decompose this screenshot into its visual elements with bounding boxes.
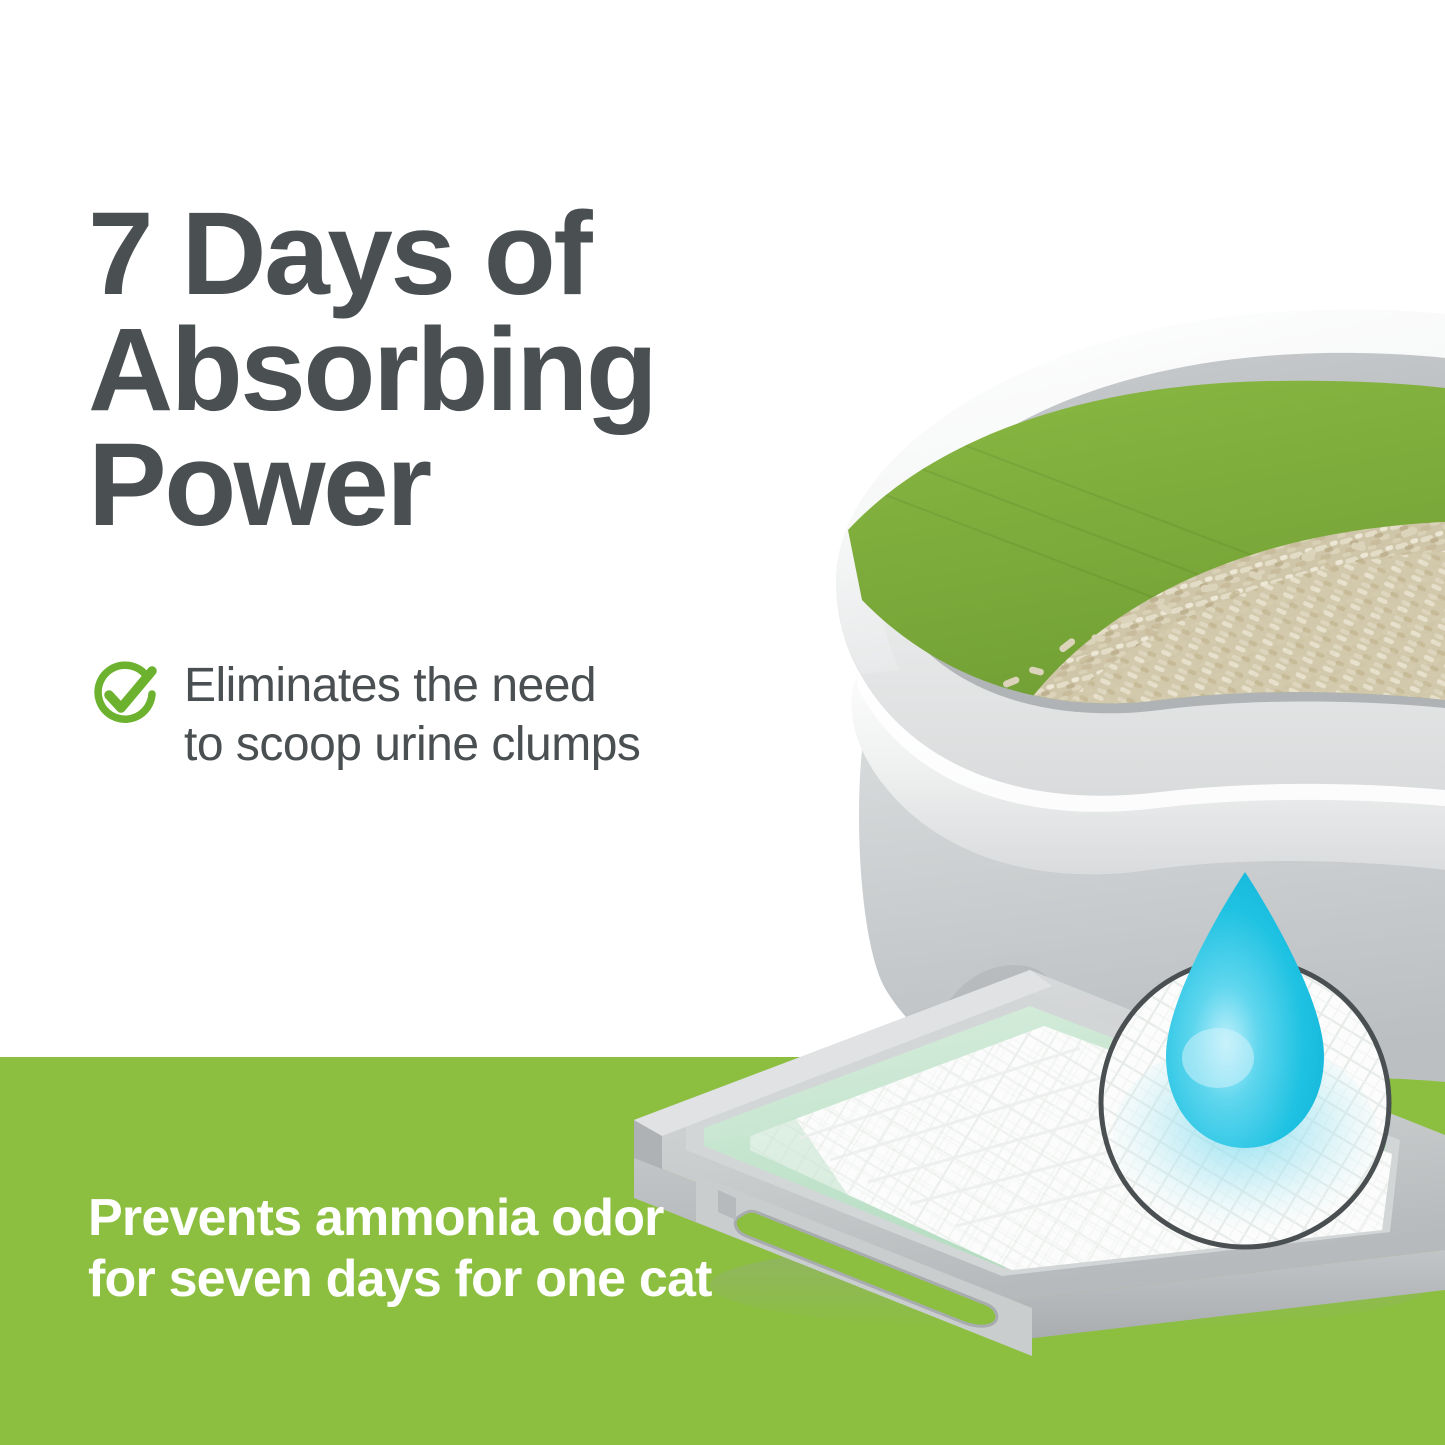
footer-line-2: for seven days for one cat — [88, 1249, 712, 1310]
bullet-line-1: Eliminates the need — [184, 657, 640, 716]
droplet-highlight — [1182, 1028, 1254, 1088]
footer-claim: Prevents ammonia odor for seven days for… — [88, 1188, 712, 1311]
page-title: 7 Days of Absorbing Power — [88, 197, 948, 544]
headline-line-3: Power — [88, 428, 948, 544]
feature-bullet: Eliminates the need to scoop urine clump… — [88, 655, 888, 774]
footer-line-1: Prevents ammonia odor — [88, 1188, 712, 1249]
headline-line-2: Absorbing — [88, 313, 948, 429]
headline-line-1: 7 Days of — [88, 197, 948, 313]
bullet-line-2: to scoop urine clumps — [184, 716, 640, 775]
feature-bullet-text: Eliminates the need to scoop urine clump… — [184, 655, 640, 774]
check-circle-icon — [88, 657, 162, 731]
product-feature-image: 7 Days of Absorbing Power Eliminates the… — [0, 0, 1445, 1445]
